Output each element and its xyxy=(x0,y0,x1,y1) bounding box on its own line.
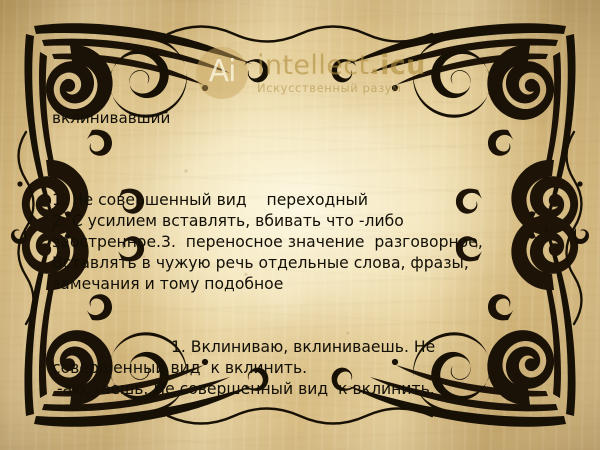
edge-rule-right xyxy=(567,132,590,324)
dictionary-entry: вклинивавший 1. Не совершенный вид перех… xyxy=(52,66,552,442)
parchment-page: Ai intellect.icu Искусственный разум вкл… xyxy=(0,0,600,450)
conjugation-forms: 1. Вклиниваю, вклиниваешь. Не совершенны… xyxy=(52,337,552,400)
edge-rule-left xyxy=(11,132,34,324)
edge-rule-top xyxy=(168,27,432,42)
definition-list: 1. Не совершенный вид переходный 2. С ус… xyxy=(52,190,552,295)
headword: вклинивавший xyxy=(52,108,552,128)
